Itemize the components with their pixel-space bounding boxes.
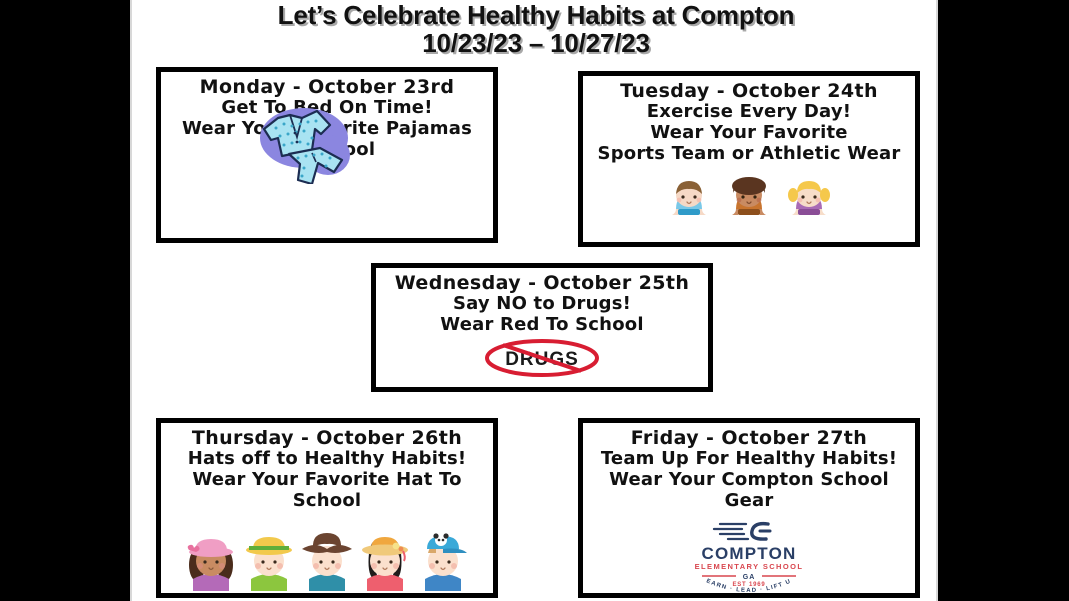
hat-kid-3 [299, 521, 355, 591]
no-drugs-icon: DRUGS [376, 338, 708, 378]
compton-logo-icon: COMPTON ELEMENTARY SCHOOL GA EST 1969 LE… [583, 516, 915, 592]
hat-kid-4 [357, 521, 413, 591]
exercise-kid-3 [786, 175, 832, 221]
day-line-wednesday-2: Wear Red To School [376, 315, 708, 336]
day-line-friday-2: Wear Your Compton School [583, 470, 915, 491]
kids-with-hats-icon [161, 517, 493, 591]
day-heading-wednesday: Wednesday - October 25th [376, 272, 708, 294]
day-line-tuesday-2: Wear Your Favorite [583, 123, 915, 144]
hat-kid-2 [241, 521, 297, 591]
logo-subtitle: ELEMENTARY SCHOOL [695, 562, 804, 571]
presentation-slide: Let’s Celebrate Healthy Habits at Compto… [130, 0, 938, 601]
pajamas-icon [242, 98, 362, 184]
day-line-thursday-3: School [161, 491, 493, 512]
day-card-thursday: Thursday - October 26th Hats off to Heal… [156, 418, 498, 598]
day-card-friday: Friday - October 27th Team Up For Health… [578, 418, 920, 598]
letterbox-bar-right [938, 0, 1069, 601]
day-line-thursday-2: Wear Your Favorite Hat To [161, 470, 493, 491]
day-line-friday-3: Gear [583, 491, 915, 512]
hat-kid-1 [183, 521, 239, 591]
page-title: Let’s Celebrate Healthy Habits at Compto… [132, 2, 940, 57]
day-line-tuesday-1: Exercise Every Day! [583, 102, 915, 123]
day-card-tuesday: Tuesday - October 24th Exercise Every Da… [578, 71, 920, 247]
day-line-wednesday-1: Say NO to Drugs! [376, 294, 708, 315]
day-line-thursday-1: Hats off to Healthy Habits! [161, 449, 493, 470]
title-line-2: 10/23/23 – 10/27/23 [132, 30, 940, 58]
logo-est: EST 1969 [732, 582, 765, 588]
logo-name: COMPTON [702, 544, 797, 563]
slide-canvas: Let’s Celebrate Healthy Habits at Compto… [0, 0, 1069, 601]
logo-state: GA [743, 574, 756, 581]
exercise-kid-1 [666, 175, 712, 221]
day-heading-tuesday: Tuesday - October 24th [583, 80, 915, 102]
day-heading-monday: Monday - October 23rd [161, 76, 493, 98]
day-card-wednesday: Wednesday - October 25th Say NO to Drugs… [371, 263, 713, 392]
day-heading-friday: Friday - October 27th [583, 427, 915, 449]
day-line-friday-1: Team Up For Healthy Habits! [583, 449, 915, 470]
title-line-1: Let’s Celebrate Healthy Habits at Compto… [132, 2, 940, 30]
letterbox-bar-left [0, 0, 129, 601]
hat-kid-5 [415, 521, 471, 591]
exercising-kids-icon [583, 169, 915, 221]
day-line-tuesday-3: Sports Team or Athletic Wear [583, 144, 915, 165]
day-heading-thursday: Thursday - October 26th [161, 427, 493, 449]
exercise-kid-2 [726, 175, 772, 221]
